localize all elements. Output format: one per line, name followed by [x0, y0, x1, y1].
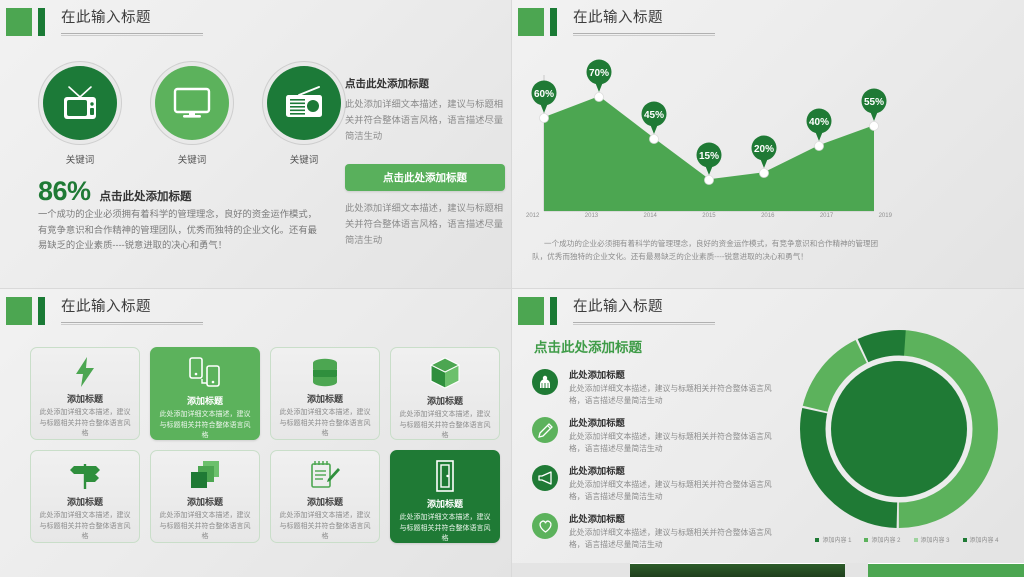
right-body: 此处添加详细文本描述，建议与标题相关并符合整体语言风格，语言描述尽量简洁生动 — [345, 96, 505, 144]
list-item-body: 此处添加详细文本描述，建议与标题相关并符合整体语言风格，语言描述尽量简洁生动 — [569, 431, 777, 454]
slide-4[interactable]: 在此输入标题 点击此处添加标题 此处添加标题 — [512, 289, 1024, 577]
header-rule — [61, 33, 203, 34]
slide-4-section-title: 点击此处添加标题 — [534, 336, 642, 356]
x-tick: 2014 — [644, 213, 657, 219]
slide-1[interactable]: 在此输入标题 关键词 — [0, 0, 512, 289]
legend-label: 添加内容 2 — [871, 535, 900, 544]
area-chart: 60% 70% 45% 15% 20% 40% 55% — [524, 55, 894, 230]
svg-text:45%: 45% — [644, 110, 664, 121]
bolt-icon — [74, 357, 96, 387]
header-bar-accent — [38, 8, 45, 36]
feature-card-title: 添加标题 — [427, 394, 463, 407]
next-slide-thumbnail-1[interactable] — [630, 563, 845, 577]
list-item-title: 此处添加标题 — [569, 367, 777, 381]
layers-icon — [190, 460, 220, 490]
feature-card-body: 此处添加详细文本描述，建议与标题相关并符合整体语言风格 — [279, 511, 371, 543]
feature-card-title: 添加标题 — [67, 392, 103, 405]
heart-icon — [532, 513, 558, 539]
keyword-item-2[interactable]: 关键词 — [148, 66, 236, 166]
signpost-icon — [69, 460, 101, 490]
list-item[interactable]: 此处添加标题 此处添加详细文本描述，建议与标题相关并符合整体语言风格，语言描述尽… — [532, 415, 777, 454]
slide-2-header: 在此输入标题 — [518, 8, 715, 36]
legend-label: 添加内容 3 — [921, 535, 950, 544]
header-rule — [573, 322, 715, 323]
people-icon — [532, 369, 558, 395]
svg-text:60%: 60% — [534, 89, 554, 100]
slide-deck: 在此输入标题 关键词 — [0, 0, 1024, 577]
feature-card-body: 此处添加详细文本描述，建议与标题相关并符合整体语言风格 — [39, 408, 131, 440]
donut-chart-legend: 添加内容 1 添加内容 2 添加内容 3 添加内容 4 — [792, 535, 1022, 544]
list-item-title: 此处添加标题 — [569, 511, 777, 525]
feature-card-title: 添加标题 — [307, 495, 343, 508]
list-item-title: 此处添加标题 — [569, 463, 777, 477]
mobile-devices-icon — [188, 357, 222, 389]
feature-card-4[interactable]: 添加标题 此处添加详细文本描述，建议与标题相关并符合整体语言风格 — [390, 347, 500, 440]
feature-card-grid: 添加标题 此处添加详细文本描述，建议与标题相关并符合整体语言风格 添加标题 此处… — [30, 347, 500, 543]
donut-chart-svg — [794, 324, 1004, 534]
legend-swatch — [815, 538, 819, 542]
x-tick: 2019 — [879, 213, 892, 219]
svg-text:20%: 20% — [754, 144, 774, 155]
statistic-title: 点击此处添加标题 — [100, 188, 192, 204]
header-rule — [61, 322, 203, 323]
slide-1-header: 在此输入标题 — [6, 8, 203, 36]
feature-card-body: 此处添加详细文本描述，建议与标题相关并符合整体语言风格 — [159, 511, 251, 543]
legend-label: 添加内容 1 — [822, 535, 851, 544]
keyword-item-3[interactable]: 关键词 — [260, 66, 348, 166]
feature-card-5[interactable]: 添加标题 此处添加详细文本描述，建议与标题相关并符合整体语言风格 — [30, 450, 140, 543]
slide-3[interactable]: 在此输入标题 添加标题 此处添加详细文本描述，建议与标题相关并符合整体语言风格 — [0, 289, 512, 577]
header-square-accent — [6, 297, 32, 325]
keyword-label-3: 关键词 — [260, 152, 348, 166]
right-body-secondary: 此处添加详细文本描述，建议与标题相关并符合整体语言风格，语言描述尽量简洁生动 — [345, 200, 505, 248]
add-title-button[interactable]: 点击此处添加标题 — [345, 164, 505, 191]
svg-text:55%: 55% — [864, 97, 884, 108]
television-icon — [60, 84, 100, 122]
monitor-icon — [171, 84, 213, 122]
svg-text:15%: 15% — [699, 151, 719, 162]
keyword-circle-1[interactable] — [43, 66, 117, 140]
feature-card-8[interactable]: 添加标题 此处添加详细文本描述，建议与标题相关并符合整体语言风格 — [390, 450, 500, 543]
legend-item[interactable]: 添加内容 3 — [914, 535, 950, 544]
legend-item[interactable]: 添加内容 2 — [864, 535, 900, 544]
svg-text:40%: 40% — [809, 117, 829, 128]
area-chart-svg: 60% 70% 45% 15% 20% 40% 55% — [524, 55, 894, 230]
keyword-circle-3[interactable] — [267, 66, 341, 140]
pencil-icon — [532, 417, 558, 443]
slide-1-right-column: 点击此处添加标题 此处添加详细文本描述，建议与标题相关并符合整体语言风格，语言描… — [345, 76, 505, 248]
feature-card-title: 添加标题 — [307, 392, 343, 405]
slide-1-title: 在此输入标题 — [61, 8, 203, 29]
list-item[interactable]: 此处添加标题 此处添加详细文本描述，建议与标题相关并符合整体语言风格，语言描述尽… — [532, 463, 777, 502]
legend-swatch — [963, 538, 967, 542]
notepad-pencil-icon — [309, 460, 341, 490]
list-item-body: 此处添加详细文本描述，建议与标题相关并符合整体语言风格，语言描述尽量简洁生动 — [569, 383, 777, 406]
slide-1-body-text: 一个成功的企业必须拥有着科学的管理理念，良好的资金运作模式，有竞争意识和合作精神… — [38, 207, 320, 254]
slide-4-feature-list: 此处添加标题 此处添加详细文本描述，建议与标题相关并符合整体语言风格，语言描述尽… — [532, 367, 777, 559]
donut-chart — [794, 324, 1004, 539]
header-bar-accent — [38, 297, 45, 325]
feature-card-title: 添加标题 — [67, 495, 103, 508]
slide-2-title: 在此输入标题 — [573, 8, 715, 29]
right-title: 点击此处添加标题 — [345, 76, 505, 91]
database-icon — [310, 357, 340, 387]
statistic-block: 86% 点击此处添加标题 — [38, 176, 192, 207]
legend-item[interactable]: 添加内容 1 — [815, 535, 851, 544]
header-rule-secondary — [573, 324, 715, 325]
feature-card-1[interactable]: 添加标题 此处添加详细文本描述，建议与标题相关并符合整体语言风格 — [30, 347, 140, 440]
legend-swatch — [864, 538, 868, 542]
cube-icon — [430, 357, 460, 389]
feature-card-6[interactable]: 添加标题 此处添加详细文本描述，建议与标题相关并符合整体语言风格 — [150, 450, 260, 543]
header-bar-accent — [550, 8, 557, 36]
legend-item[interactable]: 添加内容 4 — [963, 535, 999, 544]
next-slide-thumbnail-2[interactable] — [868, 563, 1024, 577]
header-square-accent — [518, 297, 544, 325]
keyword-item-1[interactable]: 关键词 — [36, 66, 124, 166]
feature-card-2[interactable]: 添加标题 此处添加详细文本描述，建议与标题相关并符合整体语言风格 — [150, 347, 260, 440]
keyword-circle-2[interactable] — [155, 66, 229, 140]
slide-3-header: 在此输入标题 — [6, 297, 203, 325]
megaphone-icon — [532, 465, 558, 491]
slide-4-title: 在此输入标题 — [573, 297, 715, 318]
strip-gap — [512, 563, 630, 577]
x-tick: 2016 — [761, 213, 774, 219]
list-item[interactable]: 此处添加标题 此处添加详细文本描述，建议与标题相关并符合整体语言风格，语言描述尽… — [532, 511, 777, 550]
list-item-title: 此处添加标题 — [569, 415, 777, 429]
list-item-body: 此处添加详细文本描述，建议与标题相关并符合整体语言风格，语言描述尽量简洁生动 — [569, 479, 777, 502]
keyword-circle-group: 关键词 关键词 — [36, 66, 348, 166]
statistic-value: 86% — [38, 176, 91, 207]
next-slide-strip[interactable] — [512, 563, 1024, 577]
header-rule-secondary — [61, 35, 203, 36]
feature-card-body: 此处添加详细文本描述，建议与标题相关并符合整体语言风格 — [39, 511, 131, 543]
feature-card-body: 此处添加详细文本描述，建议与标题相关并符合整体语言风格 — [399, 410, 491, 442]
slide-2[interactable]: 在此输入标题 — [512, 0, 1024, 289]
feature-card-title: 添加标题 — [427, 497, 463, 510]
slide-4-header: 在此输入标题 — [518, 297, 715, 325]
x-tick: 2012 — [526, 213, 539, 219]
door-icon — [433, 460, 457, 492]
list-item[interactable]: 此处添加标题 此处添加详细文本描述，建议与标题相关并符合整体语言风格，语言描述尽… — [532, 367, 777, 406]
feature-card-title: 添加标题 — [187, 394, 223, 407]
feature-card-body: 此处添加详细文本描述，建议与标题相关并符合整体语言风格 — [399, 513, 491, 545]
radio-icon — [283, 85, 325, 121]
legend-swatch — [914, 538, 918, 542]
feature-card-body: 此处添加详细文本描述，建议与标题相关并符合整体语言风格 — [159, 410, 251, 442]
header-rule — [573, 33, 715, 34]
x-tick: 2017 — [820, 213, 833, 219]
feature-card-body: 此处添加详细文本描述，建议与标题相关并符合整体语言风格 — [279, 408, 371, 440]
keyword-label-2: 关键词 — [148, 152, 236, 166]
x-tick: 2013 — [585, 213, 598, 219]
strip-gap — [845, 563, 868, 577]
legend-label: 添加内容 4 — [970, 535, 999, 544]
header-bar-accent — [550, 297, 557, 325]
header-rule-secondary — [573, 35, 715, 36]
header-square-accent — [6, 8, 32, 36]
feature-card-title: 添加标题 — [187, 495, 223, 508]
x-tick: 2015 — [702, 213, 715, 219]
chart-x-axis-labels: 2012 2013 2014 2015 2016 2017 2019 — [524, 213, 894, 219]
header-square-accent — [518, 8, 544, 36]
slide-2-caption: 一个成功的企业必须拥有着科学的管理理念，良好的资金运作模式，有竞争意识和合作精神… — [532, 238, 887, 263]
keyword-label-1: 关键词 — [36, 152, 124, 166]
list-item-body: 此处添加详细文本描述，建议与标题相关并符合整体语言风格，语言描述尽量简洁生动 — [569, 527, 777, 550]
feature-card-3[interactable]: 添加标题 此处添加详细文本描述，建议与标题相关并符合整体语言风格 — [270, 347, 380, 440]
header-rule-secondary — [61, 324, 203, 325]
slide-3-title: 在此输入标题 — [61, 297, 203, 318]
feature-card-7[interactable]: 添加标题 此处添加详细文本描述，建议与标题相关并符合整体语言风格 — [270, 450, 380, 543]
svg-text:70%: 70% — [589, 68, 609, 79]
